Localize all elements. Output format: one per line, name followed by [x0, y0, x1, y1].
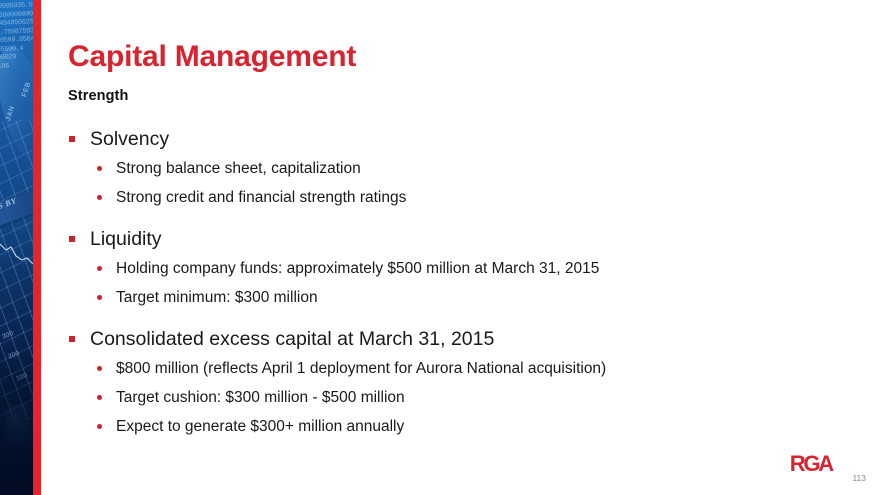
dot-bullet-icon [97, 266, 102, 271]
sidebar-digit-stream: 50995935.50 9300000000 8494850625 4.7598… [0, 1, 33, 71]
bullet-level1-label: Consolidated excess capital at March 31,… [90, 328, 494, 350]
rga-logo: RGA [790, 451, 832, 477]
dot-bullet-icon [97, 366, 102, 371]
bullet-level1-liquidity: Liquidity [66, 224, 870, 254]
bullet-level2-label: $800 million (reflects April 1 deploymen… [116, 360, 606, 377]
bullet-level2-label: Target cushion: $300 million - $500 mill… [116, 389, 405, 406]
page-number: 113 [852, 473, 866, 483]
bullet-group-solvency: Solvency Strong balance sheet, capitaliz… [66, 124, 870, 212]
bullet-level2-label: Expect to generate $300+ million annuall… [116, 418, 404, 435]
bullet-level1-label: Solvency [90, 128, 169, 150]
bullet-level1-excess-capital: Consolidated excess capital at March 31,… [66, 324, 870, 354]
bullet-level2-item: Expect to generate $300+ million annuall… [66, 412, 870, 441]
square-bullet-icon [69, 136, 75, 142]
sidebar-decorative-image: 50995935.50 9300000000 8494850625 4.7598… [0, 0, 33, 495]
square-bullet-icon [69, 236, 75, 242]
bullet-level2-label: Strong credit and financial strength rat… [116, 189, 406, 206]
slide-content: Capital Management Strength Solvency Str… [41, 0, 880, 495]
square-bullet-icon [69, 336, 75, 342]
bullet-level2-item: Strong credit and financial strength rat… [66, 183, 870, 212]
bullet-content: Solvency Strong balance sheet, capitaliz… [66, 124, 870, 441]
bullet-level2-item: Holding company funds: approximately $50… [66, 254, 870, 283]
dot-bullet-icon [97, 295, 102, 300]
bullet-level1-solvency: Solvency [66, 124, 870, 154]
bullet-level2-item: Target cushion: $300 million - $500 mill… [66, 383, 870, 412]
dot-bullet-icon [97, 395, 102, 400]
dot-bullet-icon [97, 166, 102, 171]
dot-bullet-icon [97, 424, 102, 429]
bullet-level2-item: Target minimum: $300 million [66, 283, 870, 312]
bullet-level2-label: Holding company funds: approximately $50… [116, 260, 599, 277]
bullet-level1-label: Liquidity [90, 228, 162, 250]
bullet-level2-item: Strong balance sheet, capitalization [66, 154, 870, 183]
slide-subtitle: Strength [68, 88, 128, 104]
dot-bullet-icon [97, 195, 102, 200]
slide-title: Capital Management [68, 40, 356, 74]
sidebar-digit-row: 196 [0, 60, 33, 71]
bullet-level2-label: Strong balance sheet, capitalization [116, 160, 361, 177]
bullet-group-excess-capital: Consolidated excess capital at March 31,… [66, 324, 870, 441]
bullet-level2-label: Target minimum: $300 million [116, 289, 318, 306]
bullet-level2-item: $800 million (reflects April 1 deploymen… [66, 354, 870, 383]
bullet-group-liquidity: Liquidity Holding company funds: approxi… [66, 224, 870, 312]
sidebar-bottom-shade [0, 345, 33, 495]
slide-canvas: 50995935.50 9300000000 8494850625 4.7598… [0, 0, 880, 495]
sidebar-trend-line-icon [0, 236, 33, 276]
red-vertical-stripe [33, 0, 41, 495]
